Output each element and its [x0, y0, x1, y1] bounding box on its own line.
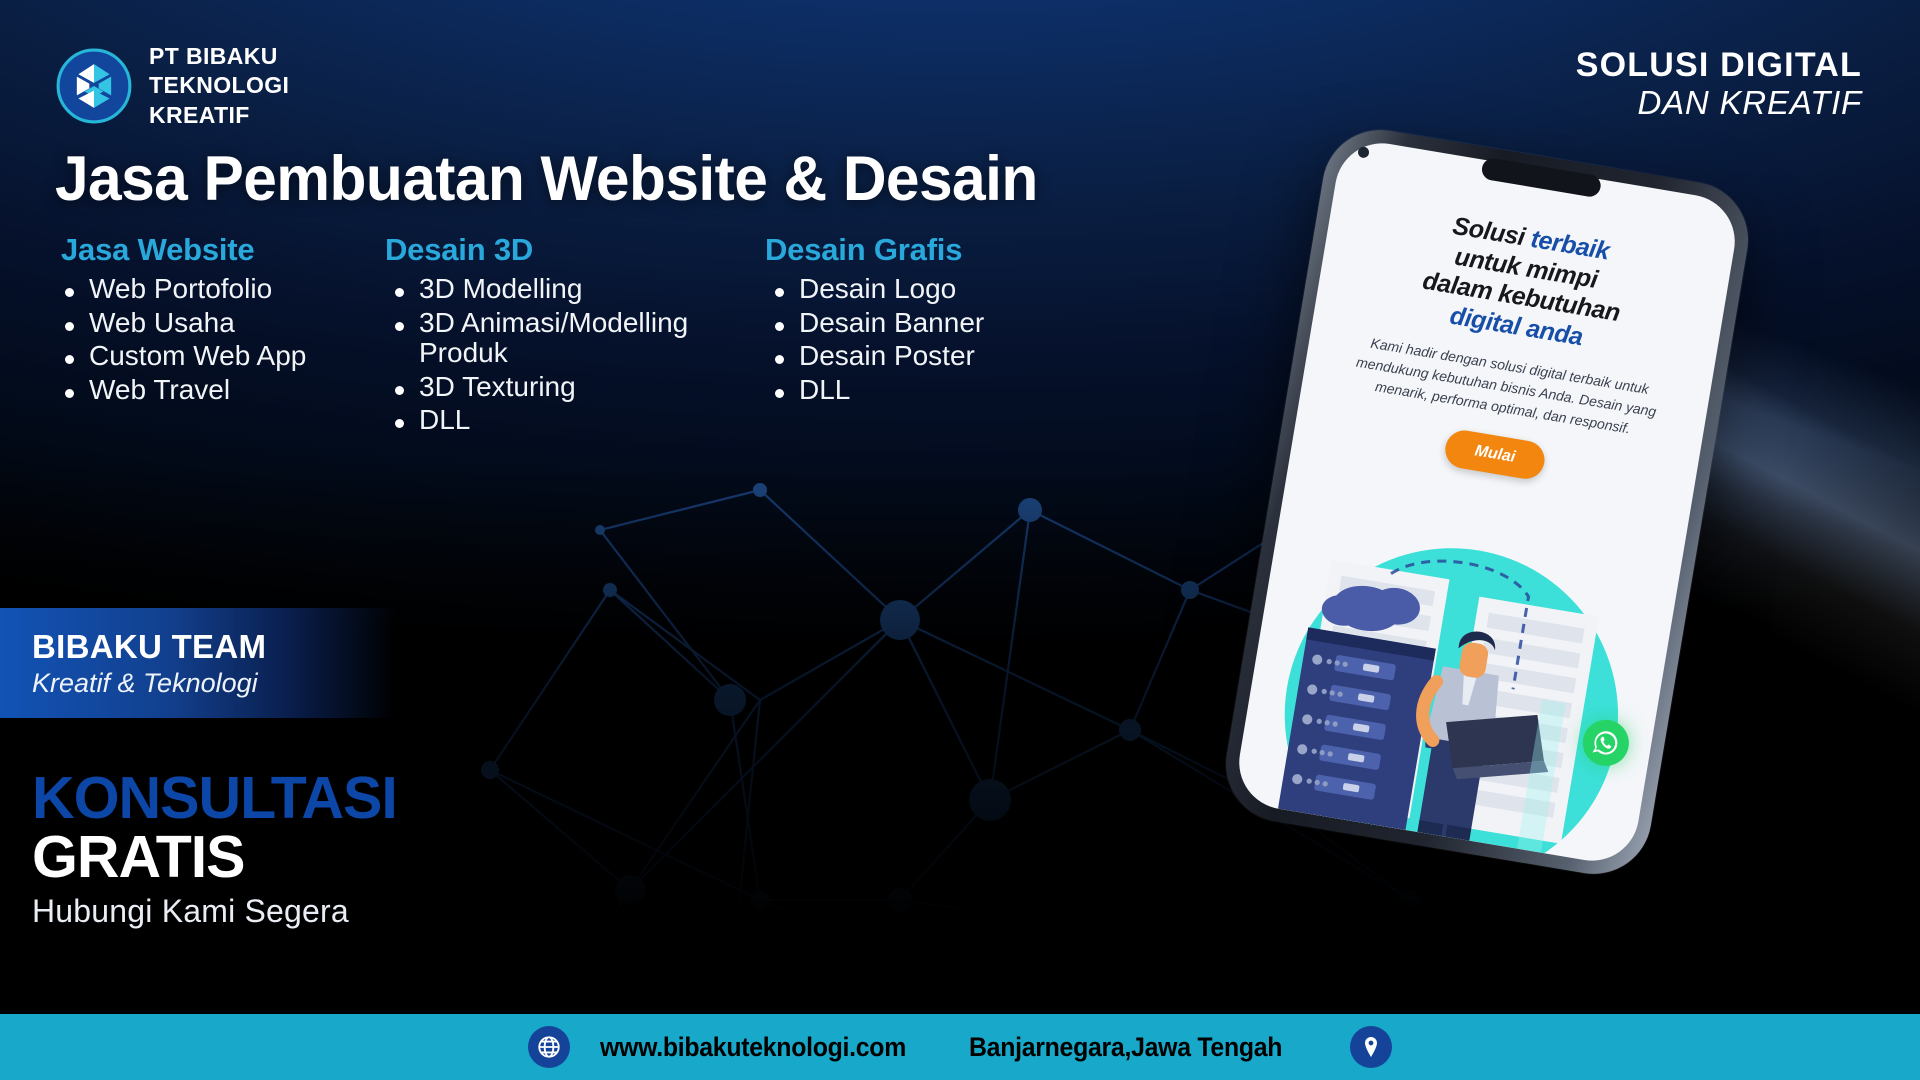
tagline-line-2: DAN KREATIF	[1576, 84, 1862, 123]
list-item: Desain Poster	[765, 341, 1125, 372]
service-column-title: Desain 3D	[385, 232, 765, 268]
team-subtitle: Kreatif & Teknologi	[32, 668, 395, 699]
team-badge: BIBAKU TEAM Kreatif & Teknologi	[0, 608, 395, 718]
service-column-3d: Desain 3D 3D Modelling 3D Animasi/Modell…	[385, 232, 765, 439]
service-list: Web Portofolio Web Usaha Custom Web App …	[55, 274, 385, 405]
consultation-cta-text: Hubungi Kami Segera	[32, 893, 397, 930]
location-text: Banjarnegara,Jawa Tengah	[969, 1032, 1282, 1063]
globe-icon	[528, 1026, 570, 1068]
team-name: BIBAKU TEAM	[32, 628, 395, 666]
phone-mockup: Solusi terbaik untuk mimpi dalam kebutuh…	[1217, 121, 1757, 882]
services-columns: Jasa Website Web Portofolio Web Usaha Cu…	[55, 232, 1125, 439]
list-item: Desain Logo	[765, 274, 1125, 305]
service-column-title: Jasa Website	[55, 232, 385, 268]
website-url[interactable]: www.bibakuteknologi.com	[600, 1032, 906, 1063]
list-item: Desain Banner	[765, 308, 1125, 339]
list-item: 3D Texturing	[385, 372, 765, 403]
consultation-line-1: KONSULTASI	[32, 770, 397, 827]
list-item: 3D Animasi/Modelling Produk	[385, 308, 765, 369]
phone-header: Solusi terbaik untuk mimpi dalam kebutuh…	[1293, 136, 1742, 506]
location-pin-icon	[1350, 1026, 1392, 1068]
service-column-website: Jasa Website Web Portofolio Web Usaha Cu…	[55, 232, 385, 439]
bibaku-cube-logo	[55, 47, 133, 125]
list-item: Web Portofolio	[55, 274, 385, 305]
promo-banner: PT BIBAKU TEKNOLOGI KREATIF SOLUSI DIGIT…	[0, 0, 1920, 1080]
main-headline: Jasa Pembuatan Website & Desain	[55, 148, 1038, 211]
list-item: DLL	[765, 375, 1125, 406]
mulai-button[interactable]: Mulai	[1442, 428, 1548, 482]
phone-screen: Solusi terbaik untuk mimpi dalam kebutuh…	[1232, 136, 1742, 867]
consultation-callout: KONSULTASI GRATIS Hubungi Kami Segera	[32, 770, 397, 930]
phone-frame: Solusi terbaik untuk mimpi dalam kebutuh…	[1217, 121, 1757, 882]
list-item: Custom Web App	[55, 341, 385, 372]
service-list: 3D Modelling 3D Animasi/Modelling Produk…	[385, 274, 765, 436]
list-item: 3D Modelling	[385, 274, 765, 305]
service-column-title: Desain Grafis	[765, 232, 1125, 268]
brand-name: PT BIBAKU TEKNOLOGI KREATIF	[149, 42, 289, 130]
service-list: Desain Logo Desain Banner Desain Poster …	[765, 274, 1125, 405]
tagline-line-1: SOLUSI DIGITAL	[1576, 46, 1862, 84]
service-column-grafis: Desain Grafis Desain Logo Desain Banner …	[765, 232, 1125, 439]
list-item: Web Usaha	[55, 308, 385, 339]
top-right-tagline: SOLUSI DIGITAL DAN KREATIF	[1576, 46, 1862, 123]
footer-bar: www.bibakuteknologi.com Banjarnegara,Jaw…	[0, 1014, 1920, 1080]
list-item: DLL	[385, 405, 765, 436]
list-item: Web Travel	[55, 375, 385, 406]
consultation-line-2: GRATIS	[32, 829, 397, 886]
phone-illustration	[1232, 454, 1689, 868]
brand-lockup: PT BIBAKU TEKNOLOGI KREATIF	[55, 42, 289, 130]
